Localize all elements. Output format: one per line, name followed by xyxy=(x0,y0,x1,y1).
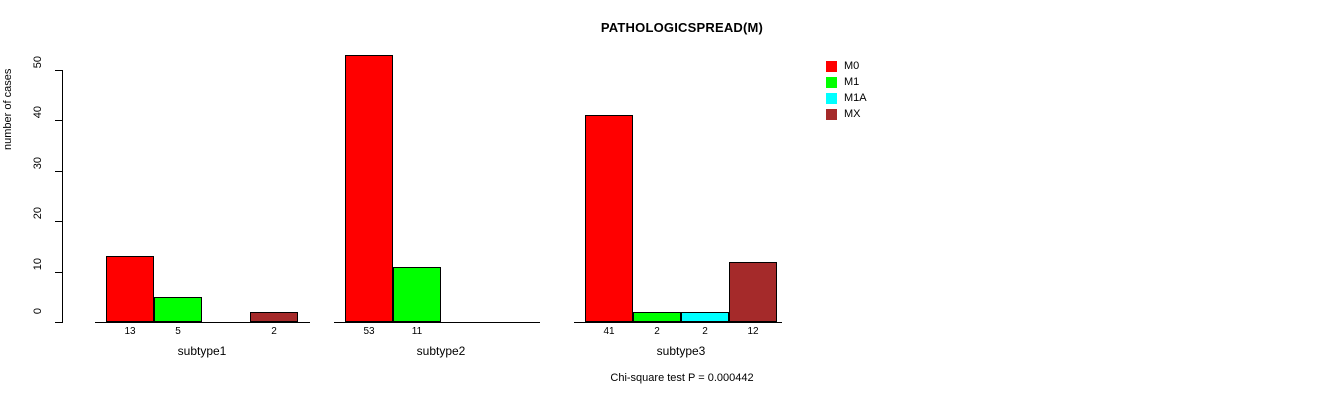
legend-swatch-icon xyxy=(826,77,837,88)
bar-value-label: 5 xyxy=(154,326,202,337)
y-axis-tick-label: 40 xyxy=(32,106,44,130)
bar-value-label: 12 xyxy=(729,326,777,337)
chart-legend: M0M1M1AMX xyxy=(826,58,936,122)
legend-swatch-icon xyxy=(826,61,837,72)
legend-item[interactable]: M0 xyxy=(826,58,936,74)
y-axis-tick xyxy=(55,272,62,273)
group-label-subtype2: subtype2 xyxy=(345,344,537,358)
group-label-subtype3: subtype3 xyxy=(585,344,777,358)
y-axis-tick xyxy=(55,221,62,222)
y-axis-tick-label: 0 xyxy=(32,308,44,332)
y-axis-tick xyxy=(55,322,62,323)
y-axis-tick-label: 20 xyxy=(32,207,44,231)
chi-square-text: Chi-square test P = 0.000442 xyxy=(610,372,753,384)
y-axis-tick-label: 30 xyxy=(32,157,44,181)
y-axis-tick xyxy=(55,70,62,71)
legend-label: M1A xyxy=(844,90,867,106)
y-axis-tick-label: 50 xyxy=(32,56,44,80)
bar[interactable] xyxy=(106,256,154,322)
bar[interactable] xyxy=(633,312,681,322)
y-axis-tick xyxy=(55,120,62,121)
bar[interactable] xyxy=(250,312,298,322)
chart-footnote: Chi-square test P = 0.000442 xyxy=(0,372,1340,384)
legend-item[interactable]: M1A xyxy=(826,90,936,106)
legend-label: MX xyxy=(844,106,861,122)
y-axis-tick xyxy=(55,171,62,172)
bar[interactable] xyxy=(729,262,777,322)
y-axis-title: number of cases xyxy=(2,69,14,150)
bar[interactable] xyxy=(681,312,729,322)
x-axis-baseline xyxy=(95,322,310,323)
y-axis-line xyxy=(62,70,63,323)
bar-value-label: 41 xyxy=(585,326,633,337)
bar[interactable] xyxy=(585,115,633,322)
bar-value-label: 53 xyxy=(345,326,393,337)
legend-item[interactable]: M1 xyxy=(826,74,936,90)
bar-value-label: 13 xyxy=(106,326,154,337)
legend-item[interactable]: MX xyxy=(826,106,936,122)
bar-value-label: 2 xyxy=(250,326,298,337)
legend-label: M0 xyxy=(844,58,859,74)
x-axis-baseline xyxy=(574,322,782,323)
y-axis-tick-label: 10 xyxy=(32,258,44,282)
chart-title: PATHOLOGICSPREAD(M) xyxy=(0,20,1340,35)
bar-value-label: 2 xyxy=(633,326,681,337)
bar[interactable] xyxy=(393,267,441,322)
bar-value-label: 11 xyxy=(393,326,441,337)
legend-label: M1 xyxy=(844,74,859,90)
bar[interactable] xyxy=(345,55,393,322)
legend-swatch-icon xyxy=(826,109,837,120)
bar[interactable] xyxy=(154,297,202,322)
bar-value-label: 2 xyxy=(681,326,729,337)
bar-chart-plot: PATHOLOGICSPREAD(M) number of cases 0102… xyxy=(0,0,1340,400)
chart-title-text: PATHOLOGICSPREAD(M) xyxy=(601,20,763,35)
legend-swatch-icon xyxy=(826,93,837,104)
x-axis-baseline xyxy=(334,322,540,323)
group-label-subtype1: subtype1 xyxy=(106,344,298,358)
